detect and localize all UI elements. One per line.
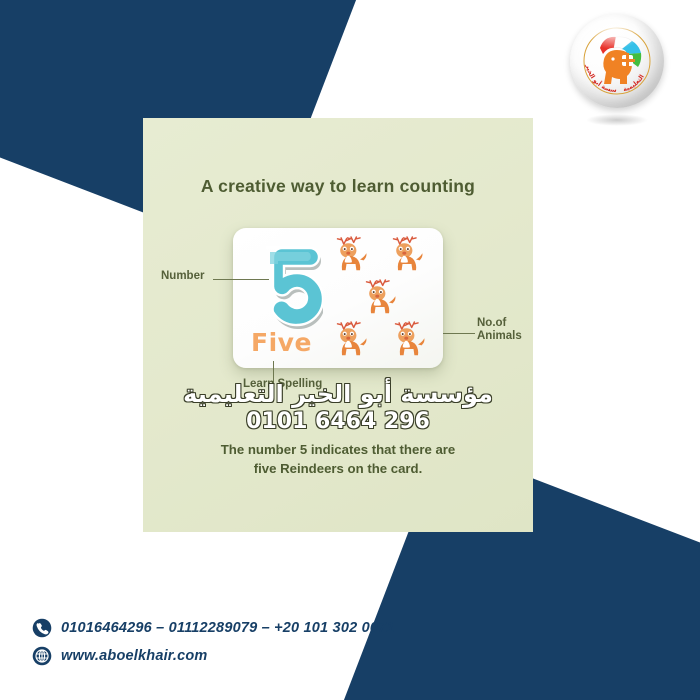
callout-animals-line2: Animals	[477, 330, 522, 342]
caption-line-1: The number 5 indicates that there are	[221, 442, 456, 457]
contact-footer: 01016464296 – 01112289079 – +20 101 302 …	[32, 618, 395, 674]
reindeer-icon	[391, 321, 427, 359]
counting-card: Five	[233, 228, 443, 368]
watermark: مؤسسة أبو الخير التعليمية 0101 6464 296	[143, 380, 533, 435]
card-caption: The number 5 indicates that there are fi…	[167, 440, 509, 478]
reindeer-icon	[389, 236, 425, 274]
reindeer-icon	[362, 279, 398, 317]
animal-group	[333, 236, 438, 360]
poster-canvas: مؤسسة أبو الخير التعليمية A creative way…	[0, 0, 700, 700]
number-word: Five	[251, 328, 312, 357]
callout-number-label: Number	[161, 270, 204, 283]
callout-animals-line1: No.of	[477, 317, 506, 329]
phone-icon	[32, 618, 52, 638]
number-5-icon	[251, 241, 323, 329]
contact-website-row: www.aboelkhair.com	[32, 646, 395, 666]
leader-line-animals	[443, 333, 475, 334]
contact-website[interactable]: www.aboelkhair.com	[61, 648, 208, 664]
logo-sphere: مؤسسة أبو الخير التعليمية	[570, 14, 664, 108]
callout-animals-label: No.of Animals	[477, 317, 522, 343]
reindeer-icon	[333, 321, 369, 359]
logo-gloss-highlight	[586, 19, 642, 49]
contact-phone-row: 01016464296 – 01112289079 – +20 101 302 …	[32, 618, 395, 638]
caption-line-2: five Reindeers on the card.	[254, 461, 423, 476]
globe-icon	[32, 646, 52, 666]
logo-shadow	[586, 114, 648, 126]
content-panel: A creative way to learn counting Five	[143, 118, 533, 532]
number-five-tile	[251, 241, 323, 329]
callout-spelling-label: Learn Spelling	[243, 378, 322, 391]
brand-logo: مؤسسة أبو الخير التعليمية	[562, 14, 672, 126]
contact-phone-numbers[interactable]: 01016464296 – 01112289079 – +20 101 302 …	[61, 620, 395, 636]
reindeer-icon	[333, 236, 369, 274]
watermark-arabic-text: مؤسسة أبو الخير التعليمية	[143, 380, 533, 408]
watermark-phone: 0101 6464 296	[143, 409, 533, 435]
page-title: A creative way to learn counting	[143, 176, 533, 197]
leader-line-number	[213, 279, 269, 280]
